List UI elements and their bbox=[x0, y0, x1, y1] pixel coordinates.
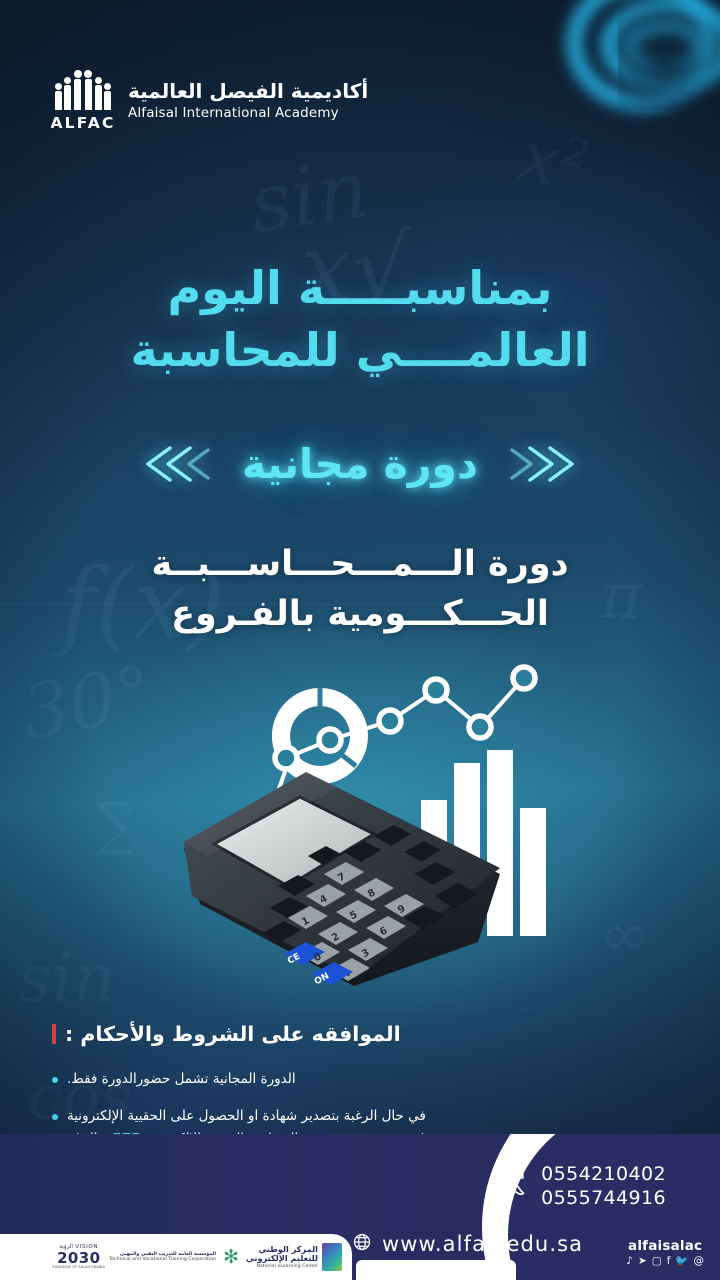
partner-logos: المركز الوطني للتعليم الإلكتروني Nationa… bbox=[0, 1234, 352, 1280]
partner-name-en: Technical and Vocational Training Corpor… bbox=[109, 1257, 216, 1262]
accounting-artwork: CE ON 7 8 9 4 5 6 1 2 3 0 . bbox=[0, 648, 720, 1008]
headline-line-2: العالمــــي للمحاسبة bbox=[58, 320, 662, 382]
math-glyph-decor: x² bbox=[512, 114, 595, 208]
tvtc-logo-icon: ✻ bbox=[220, 1245, 242, 1269]
social-icons[interactable]: @ 🐦 f ▢ ➤ ♪ bbox=[626, 1256, 704, 1267]
course-title-line-1: دورة الـــمـــحـــاســـبــة bbox=[82, 540, 638, 590]
vision-sub-text: KINGDOM OF SAUDI ARABIA bbox=[52, 1266, 105, 1270]
calculator-icon: CE ON 7 8 9 4 5 6 1 2 3 0 . bbox=[178, 756, 508, 996]
course-title: دورة الـــمـــحـــاســـبــة الحـــكـــوم… bbox=[0, 540, 720, 639]
free-course-banner: دورة مجانية bbox=[0, 440, 720, 488]
term-line: الدورة المجانية تشمل حضورالدورة فقط. bbox=[67, 1068, 296, 1091]
red-bar-marker bbox=[52, 1024, 56, 1044]
math-glyph-decor: sin bbox=[244, 142, 374, 251]
free-course-label: دورة مجانية bbox=[242, 440, 478, 488]
list-item: الدورة المجانية تشمل حضورالدورة فقط. bbox=[52, 1068, 668, 1091]
footer-bar: 0554210402 0555744916 alfaisalac @ 🐦 f ▢… bbox=[0, 1134, 720, 1280]
logo-abbreviation: ALFAC bbox=[50, 114, 115, 132]
facebook-icon[interactable]: f bbox=[667, 1256, 671, 1267]
nelc-logo-icon bbox=[322, 1243, 342, 1271]
partner-name-ar-2: للتعليم الإلكتروني bbox=[246, 1254, 318, 1263]
terms-heading: الموافقه على الشروط والأحكام : bbox=[52, 1022, 668, 1046]
spiral-mask-decor bbox=[618, 0, 720, 110]
phone-number-1: 0554210402 bbox=[541, 1162, 666, 1186]
headline-line-1: بمناسبـــــة اليوم bbox=[58, 258, 662, 320]
instagram-icon[interactable]: ▢ bbox=[652, 1256, 662, 1267]
math-rule-decor bbox=[380, 250, 720, 251]
poster-canvas: sin √x f(x) 30° sin cos x² ∑ π ∞ ALFAC bbox=[0, 0, 720, 1280]
footer-white-tab-decor bbox=[356, 1260, 516, 1280]
globe-icon bbox=[352, 1232, 372, 1256]
twitter-icon[interactable]: 🐦 bbox=[675, 1256, 688, 1267]
vision-2030-icon: VISION الرؤية 2030 KINGDOM OF SAUDI ARAB… bbox=[52, 1245, 105, 1269]
phone-number-2: 0555744916 bbox=[541, 1186, 666, 1210]
double-chevron-right-icon bbox=[138, 441, 210, 487]
partner-vision2030: VISION الرؤية 2030 KINGDOM OF SAUDI ARAB… bbox=[52, 1245, 105, 1269]
phone-icon bbox=[504, 1171, 530, 1201]
page-title: بمناسبـــــة اليوم العالمــــي للمحاسبة bbox=[0, 258, 720, 381]
bullet-icon bbox=[52, 1114, 58, 1120]
brand-logo: ALFAC أكاديمية الفيصل العالمية Alfaisal … bbox=[52, 68, 368, 132]
partner-tvtc: ✻ المؤسسة العامة للتدريب التقني والمهني … bbox=[109, 1245, 242, 1269]
vision-year: 2030 bbox=[57, 1251, 100, 1266]
course-title-line-2: الحـــكـــومية بالفـروع bbox=[82, 590, 638, 640]
website-url: www.alfac.edu.sa bbox=[382, 1232, 583, 1256]
social-block[interactable]: alfaisalac @ 🐦 f ▢ ➤ ♪ bbox=[626, 1238, 704, 1267]
terms-heading-text: الموافقه على الشروط والأحكام : bbox=[65, 1022, 401, 1046]
people-group-icon: ALFAC bbox=[52, 68, 114, 132]
contact-phones[interactable]: 0554210402 0555744916 bbox=[504, 1162, 666, 1211]
tiktok-icon[interactable]: ♪ bbox=[626, 1256, 633, 1267]
double-chevron-left-icon bbox=[510, 441, 582, 487]
term-line: في حال الرغبة بتصدير شهادة او الحصول على… bbox=[67, 1105, 426, 1128]
partner-name-en: National eLearning Center bbox=[246, 1264, 318, 1269]
telegram-icon[interactable]: ➤ bbox=[638, 1256, 647, 1267]
website-link[interactable]: www.alfac.edu.sa bbox=[352, 1232, 583, 1256]
partner-nelc: المركز الوطني للتعليم الإلكتروني Nationa… bbox=[246, 1243, 342, 1271]
brand-name-arabic: أكاديمية الفيصل العالمية bbox=[128, 79, 368, 103]
brand-name-english: Alfaisal International Academy bbox=[128, 105, 368, 121]
threads-icon[interactable]: @ bbox=[694, 1256, 705, 1267]
social-handle: alfaisalac bbox=[626, 1238, 704, 1254]
math-rule-decor bbox=[0, 1010, 720, 1011]
term-text: الدورة المجانية تشمل حضورالدورة فقط. bbox=[67, 1068, 296, 1091]
phone-numbers: 0554210402 0555744916 bbox=[541, 1162, 666, 1211]
bullet-icon bbox=[52, 1077, 58, 1083]
